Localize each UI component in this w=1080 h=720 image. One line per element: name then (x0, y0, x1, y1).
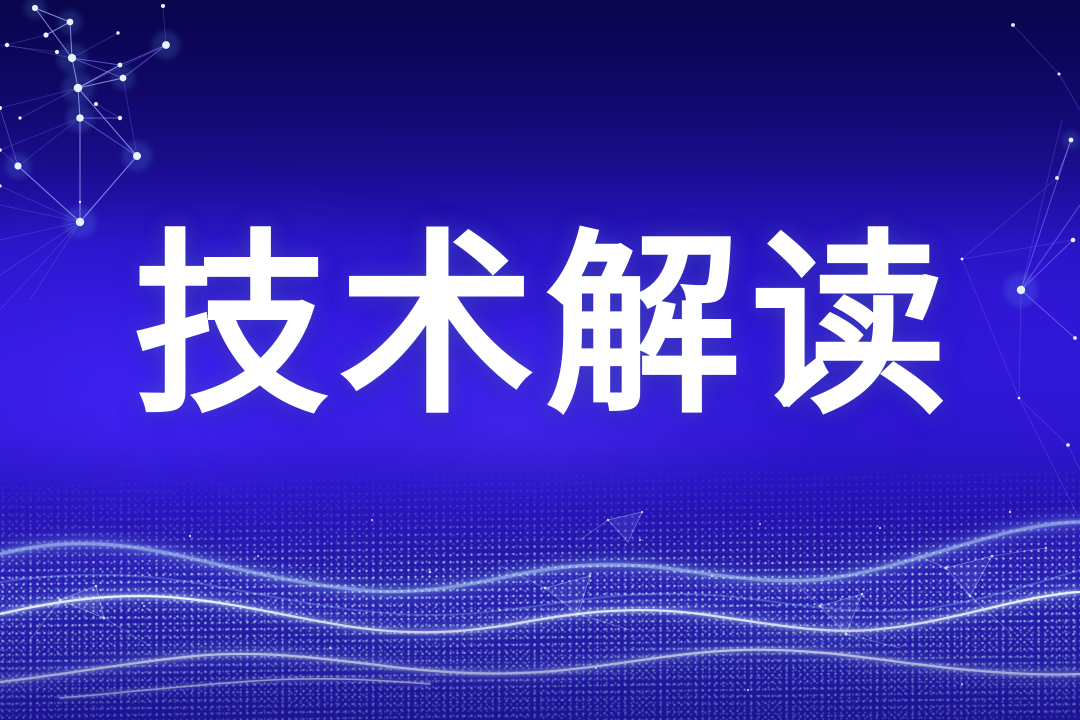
wave-field (0, 470, 1080, 720)
banner-canvas: 技术解读 (0, 0, 1080, 720)
wave-dot-grid-tertiary (0, 470, 1080, 720)
page-title: 技术解读 (123, 229, 957, 425)
